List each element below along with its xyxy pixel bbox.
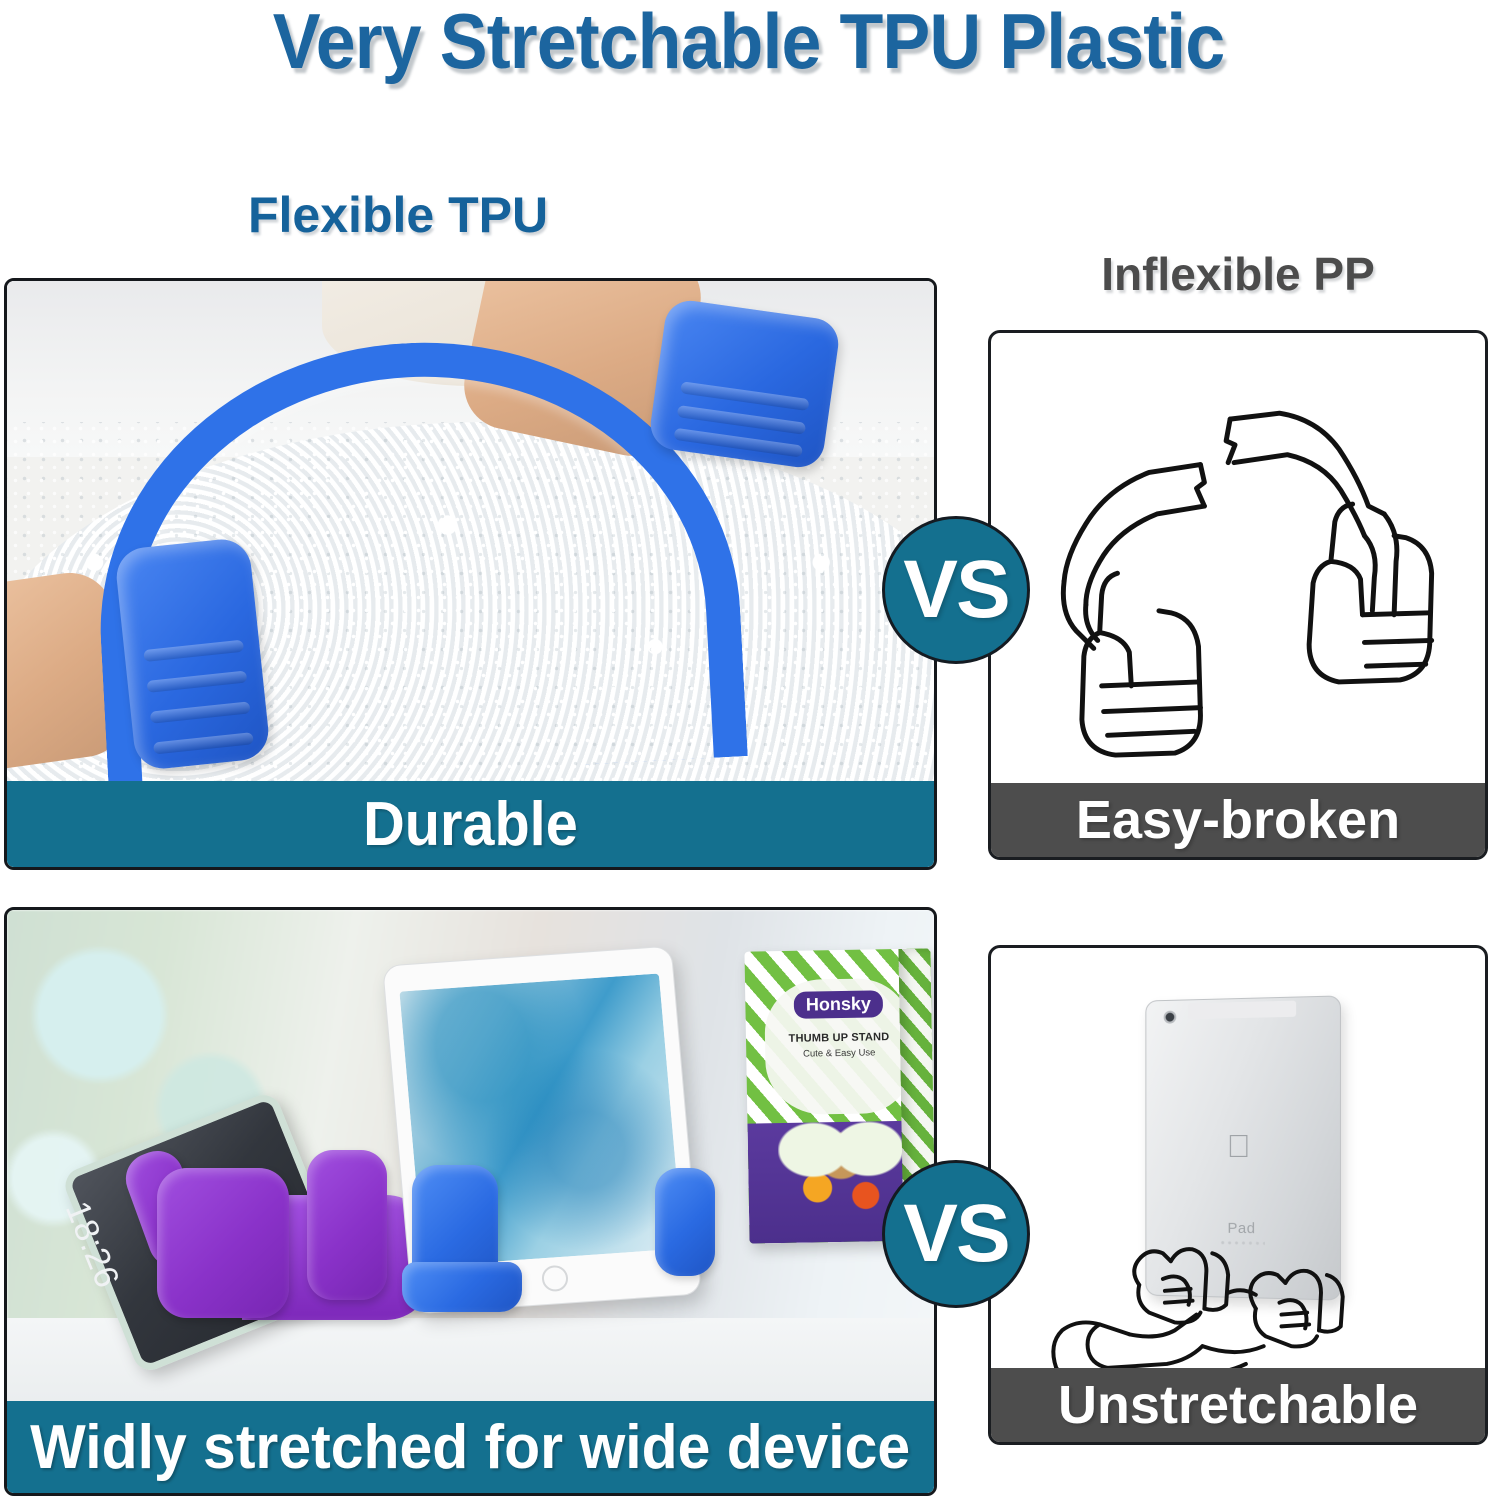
- blue-stand-base: [402, 1262, 522, 1312]
- tablet-home-button: [541, 1265, 569, 1293]
- panel-durable-photo: Durable: [4, 278, 937, 870]
- panel-wide-device-photo: 18:26 Honsky THUMB UP STAND Cute & Easy …: [4, 907, 937, 1496]
- heading-flexible-tpu: Flexible TPU: [248, 186, 548, 244]
- caption-unstretchable-text: Unstretchable: [1058, 1374, 1418, 1436]
- vs-label-top: VS: [903, 543, 1008, 637]
- vs-label-bottom: VS: [903, 1187, 1008, 1281]
- caption-durable-text: Durable: [363, 789, 578, 860]
- vs-badge-bottom: VS: [882, 1160, 1030, 1308]
- package-tagline-2: Cute & Easy Use: [803, 1047, 876, 1059]
- caption-widly-stretched-text: Widly stretched for wide device: [31, 1412, 911, 1483]
- panel-easy-broken: Easy-broken: [988, 330, 1488, 860]
- page-title: Very Stretchable TPU Plastic: [60, 0, 1437, 87]
- caption-widly-stretched: Widly stretched for wide device: [7, 1401, 934, 1493]
- purple-hand-right: [307, 1150, 387, 1300]
- vs-badge-top: VS: [882, 516, 1030, 664]
- package-tagline-1: THUMB UP STAND: [788, 1031, 889, 1045]
- tpu-stretch-scene: [7, 281, 934, 867]
- blue-thumb-right: [647, 298, 841, 471]
- panel-unstretchable:  Pad: [988, 945, 1488, 1445]
- broken-stand-drawing: [991, 333, 1485, 857]
- purple-hand-left: [157, 1168, 289, 1318]
- package-brand: Honsky: [794, 990, 883, 1019]
- blue-thumb-right-hold: [655, 1168, 715, 1276]
- broken-stand-svg: [991, 333, 1485, 857]
- caption-easy-broken: Easy-broken: [991, 783, 1485, 857]
- caption-unstretchable: Unstretchable: [991, 1368, 1485, 1442]
- caption-durable: Durable: [7, 781, 934, 867]
- blue-thumb-left: [114, 537, 271, 772]
- caption-easy-broken-text: Easy-broken: [1076, 789, 1400, 851]
- package-thumbs-graphic: [776, 1077, 905, 1208]
- heading-inflexible-pp: Inflexible PP: [988, 247, 1488, 301]
